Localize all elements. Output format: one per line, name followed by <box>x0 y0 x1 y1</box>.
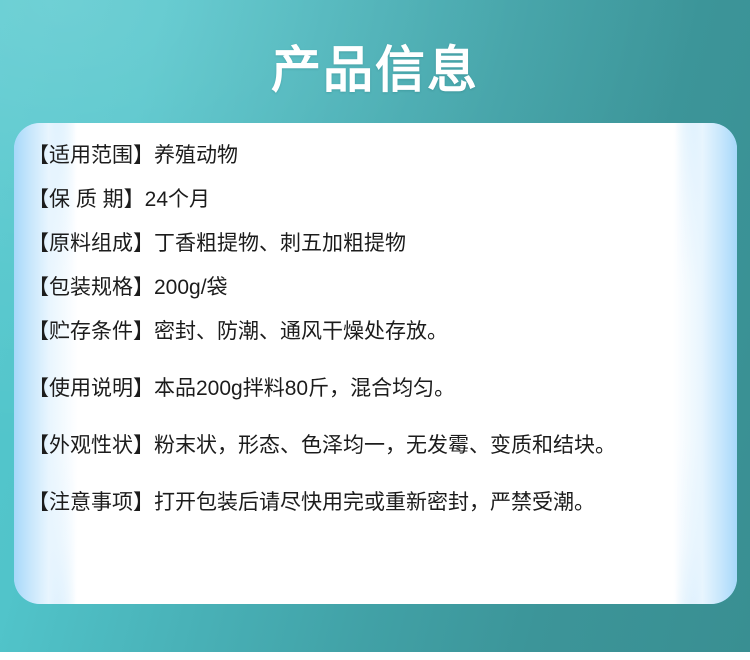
spec-row-packaging: 【包装规格】200g/袋 <box>28 275 723 300</box>
spec-value-shelf-life: 24个月 <box>145 188 210 211</box>
spec-value-ingredients: 丁香粗提物、刺五加粗提物 <box>154 232 406 255</box>
spec-label-shelf-life: 【保 质 期】 <box>28 188 145 211</box>
spec-row-ingredients: 【原料组成】丁香粗提物、刺五加粗提物 <box>28 231 723 256</box>
spec-label-ingredients: 【原料组成】 <box>28 232 154 255</box>
product-info-poster: 产品信息 【适用范围】养殖动物 【保 质 期】24个月 【原料组成】丁香粗提物、… <box>0 0 750 660</box>
spec-row-usage: 【使用说明】本品200g拌料80斤，混合均匀。 <box>28 376 723 401</box>
spec-label-usage: 【使用说明】 <box>28 377 154 400</box>
spec-value-packaging: 200g/袋 <box>154 276 228 299</box>
spec-value-appearance: 粉末状，形态、色泽均一，无发霉、变质和结块。 <box>154 434 616 457</box>
spec-row-scope: 【适用范围】养殖动物 <box>28 143 723 168</box>
spec-label-packaging: 【包装规格】 <box>28 276 154 299</box>
spec-value-scope: 养殖动物 <box>154 144 238 167</box>
spec-label-storage: 【贮存条件】 <box>28 320 154 343</box>
spec-value-usage: 本品200g拌料80斤，混合均匀。 <box>154 377 455 400</box>
spec-row-shelf-life: 【保 质 期】24个月 <box>28 187 723 212</box>
spec-value-storage: 密封、防潮、通风干燥处存放。 <box>154 320 448 343</box>
spec-row-precautions: 【注意事项】打开包装后请尽快用完或重新密封，严禁受潮。 <box>28 490 723 515</box>
spec-value-precautions: 打开包装后请尽快用完或重新密封，严禁受潮。 <box>154 491 595 514</box>
spec-list: 【适用范围】养殖动物 【保 质 期】24个月 【原料组成】丁香粗提物、刺五加粗提… <box>28 143 723 515</box>
spec-label-appearance: 【外观性状】 <box>28 434 154 457</box>
spec-row-appearance: 【外观性状】粉末状，形态、色泽均一，无发霉、变质和结块。 <box>28 433 723 458</box>
spec-label-scope: 【适用范围】 <box>28 144 154 167</box>
product-info-card: 【适用范围】养殖动物 【保 质 期】24个月 【原料组成】丁香粗提物、刺五加粗提… <box>14 123 737 604</box>
spec-label-precautions: 【注意事项】 <box>28 491 154 514</box>
page-title: 产品信息 <box>0 40 750 100</box>
spec-row-storage: 【贮存条件】密封、防潮、通风干燥处存放。 <box>28 319 723 344</box>
